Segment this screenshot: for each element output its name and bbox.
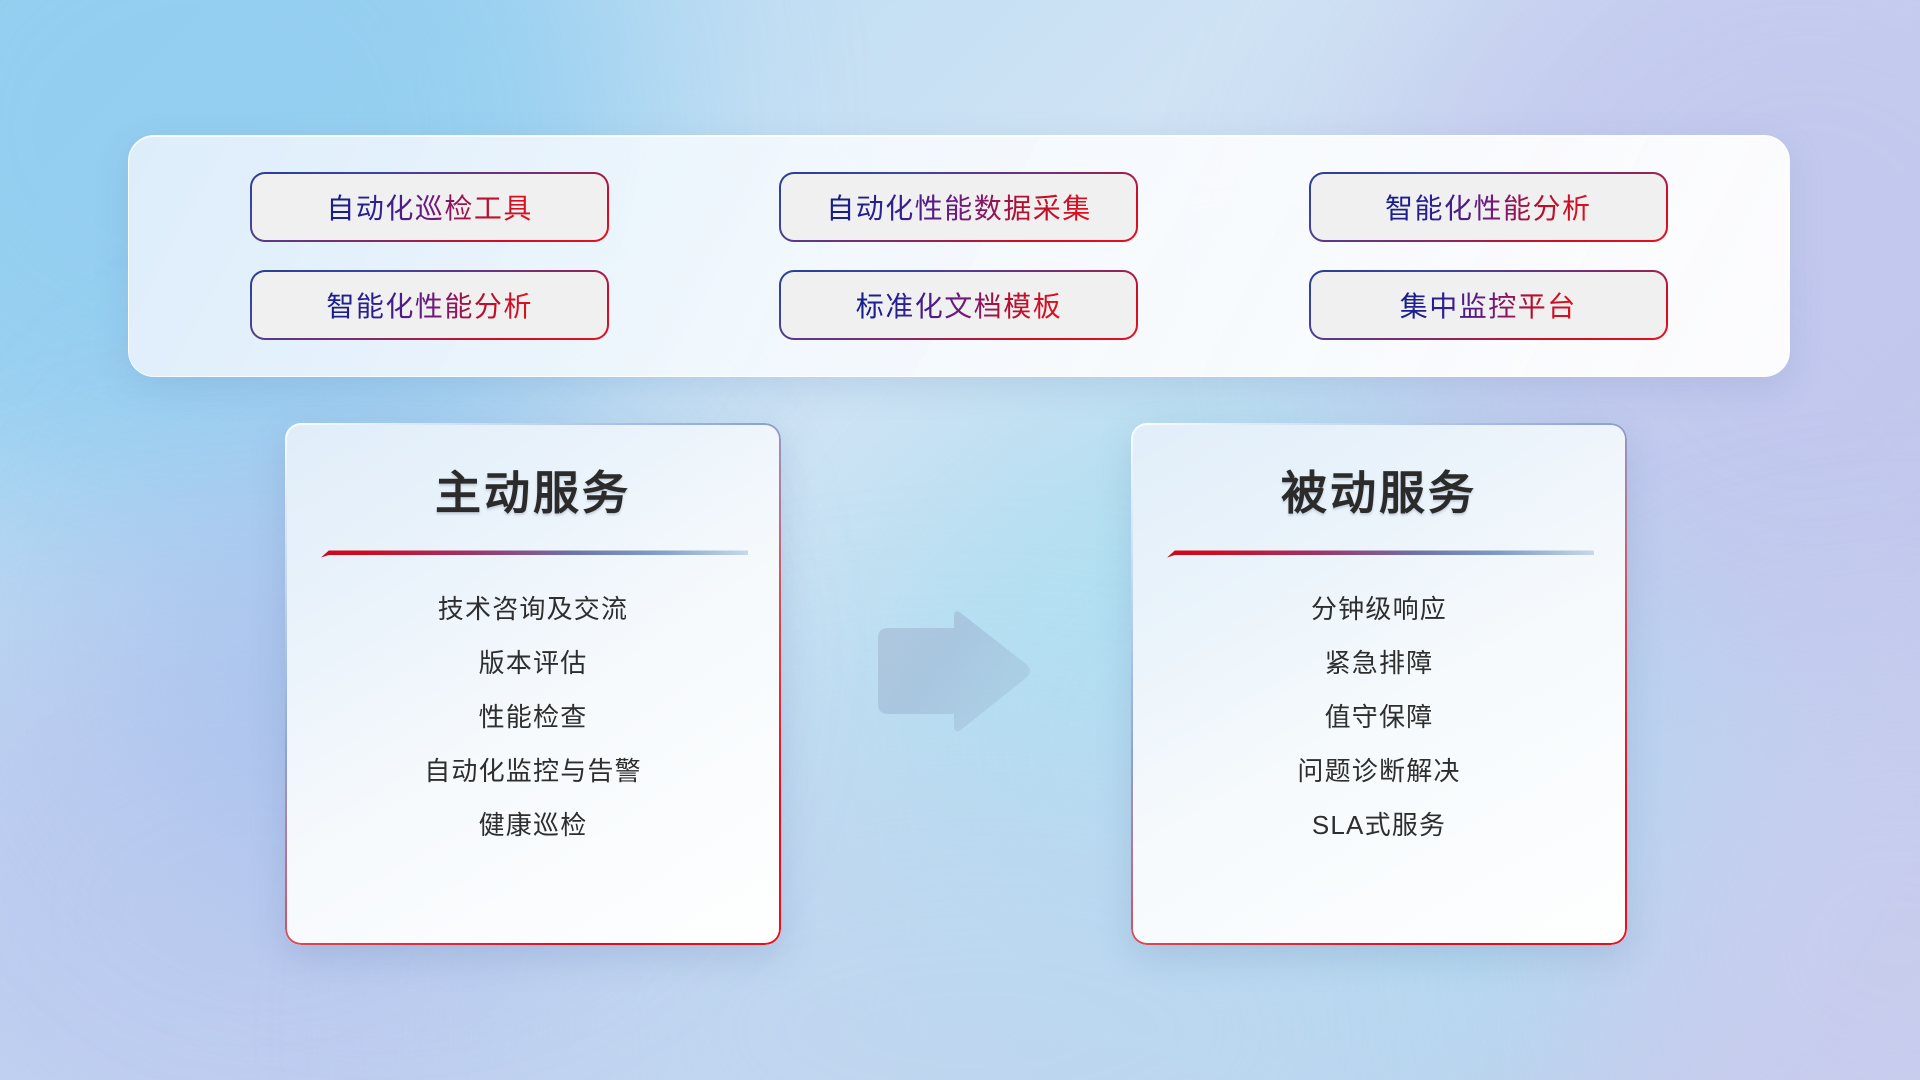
list-item: 分钟级响应: [1161, 582, 1597, 636]
capability-pill[interactable]: 智能化性能分析: [1311, 174, 1666, 240]
list-item: 自动化监控与告警: [315, 744, 751, 798]
capability-pill-label: 自动化巡检工具: [326, 187, 533, 227]
capability-pill-label: 自动化性能数据采集: [826, 187, 1092, 227]
list-item: 健康巡检: [315, 798, 751, 852]
capability-pill[interactable]: 集中监控平台: [1311, 272, 1666, 338]
active-service-card-body: 主动服务 技术咨询及交流 版本评估 性能检查: [285, 423, 781, 945]
capability-pill[interactable]: 自动化性能数据采集: [781, 174, 1136, 240]
capability-pill-label: 智能化性能分析: [1385, 187, 1592, 227]
flow-arrow-right-icon: [872, 610, 1034, 736]
list-item: 性能检查: [315, 690, 751, 744]
capability-pill-label: 集中监控平台: [1400, 285, 1577, 325]
capability-pill[interactable]: 自动化巡检工具: [252, 174, 607, 240]
list-item: 值守保障: [1161, 690, 1597, 744]
capability-pill-label: 智能化性能分析: [326, 285, 533, 325]
active-service-divider: [321, 546, 748, 560]
capability-pill[interactable]: 智能化性能分析: [252, 272, 607, 338]
active-service-list: 技术咨询及交流 版本评估 性能检查 自动化监控与告警 健康巡检: [315, 582, 751, 852]
passive-service-card: 被动服务 分钟级响应 紧急排障 值守保障: [1131, 423, 1627, 945]
capability-pill[interactable]: 标准化文档模板: [781, 272, 1136, 338]
passive-service-divider: [1167, 546, 1594, 560]
active-service-card: 主动服务 技术咨询及交流 版本评估 性能检查: [285, 423, 781, 945]
capabilities-panel: 自动化巡检工具 自动化性能数据采集 智能化性能分析 智能化性能分析 标准化文档模…: [128, 135, 1790, 377]
list-item: SLA式服务: [1161, 798, 1597, 852]
passive-service-card-body: 被动服务 分钟级响应 紧急排障 值守保障: [1131, 423, 1627, 945]
list-item: 问题诊断解决: [1161, 744, 1597, 798]
capability-pill-grid: 自动化巡检工具 自动化性能数据采集 智能化性能分析 智能化性能分析 标准化文档模…: [129, 136, 1789, 376]
passive-service-title: 被动服务: [1161, 467, 1597, 520]
list-item: 紧急排障: [1161, 636, 1597, 690]
active-service-title: 主动服务: [315, 467, 751, 520]
list-item: 技术咨询及交流: [315, 582, 751, 636]
passive-service-list: 分钟级响应 紧急排障 值守保障 问题诊断解决 SLA式服务: [1161, 582, 1597, 852]
list-item: 版本评估: [315, 636, 751, 690]
capability-pill-label: 标准化文档模板: [856, 285, 1063, 325]
